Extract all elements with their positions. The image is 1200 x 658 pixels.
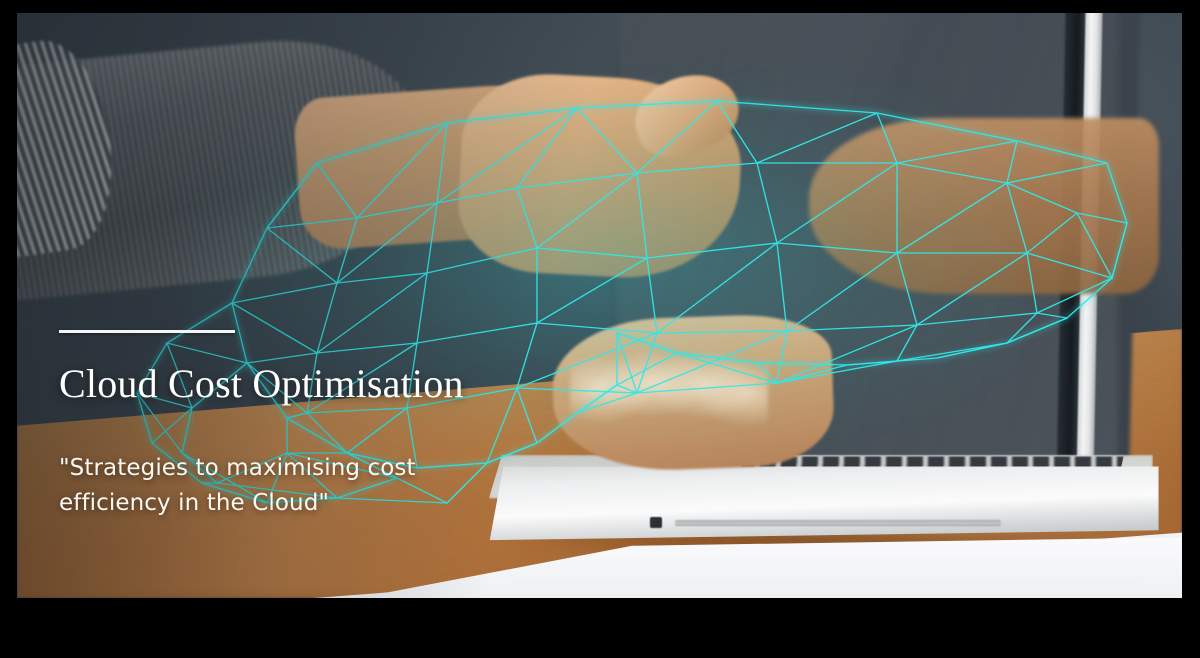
title-divider xyxy=(59,330,235,333)
laptop-base xyxy=(483,466,1159,542)
laptop-disc-slot xyxy=(675,520,1001,526)
page-subtitle: "Strategies to maximising cost efficienc… xyxy=(59,451,439,521)
laptop-port xyxy=(650,517,663,528)
page-title: Cloud Cost Optimisation xyxy=(59,363,579,405)
slide-frame: Cloud Cost Optimisation "Strategies to m… xyxy=(0,0,1200,658)
text-block: Cloud Cost Optimisation "Strategies to m… xyxy=(59,330,579,521)
